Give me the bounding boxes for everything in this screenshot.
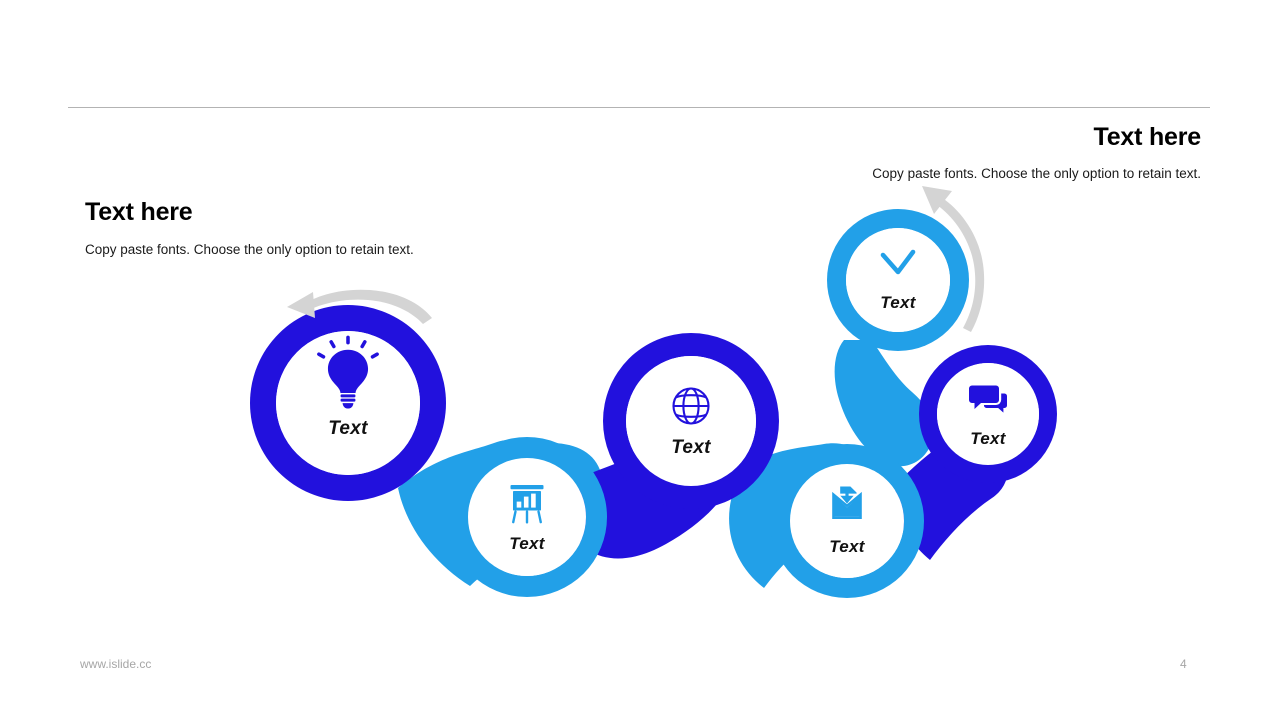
right-body: Copy paste fonts. Choose the only option… xyxy=(860,164,1201,185)
node-6-label: Text xyxy=(970,429,1006,449)
node-3-disc[interactable] xyxy=(626,356,756,486)
node-6-disc[interactable] xyxy=(937,363,1039,465)
node-rings xyxy=(0,0,1280,720)
node-5-disc[interactable] xyxy=(846,228,950,332)
node-4-label: Text xyxy=(829,537,865,557)
footer-url[interactable]: www.islide.cc xyxy=(80,657,151,671)
node-3-label: Text xyxy=(671,437,711,459)
process-chain-diagram xyxy=(0,0,1280,720)
page-number: 4 xyxy=(1180,657,1187,671)
text-block-right: Text here Copy paste fonts. Choose the o… xyxy=(860,124,1201,184)
node-6-ring[interactable] xyxy=(0,0,1280,720)
node-2-label: Text xyxy=(509,534,545,554)
node-5-label: Text xyxy=(880,293,916,313)
text-block-left: Text here Copy paste fonts. Choose the o… xyxy=(85,199,415,260)
left-body: Copy paste fonts. Choose the only option… xyxy=(85,240,415,261)
right-heading: Text here xyxy=(860,124,1201,152)
node-4-disc[interactable] xyxy=(790,464,904,578)
slide-canvas: Text Text Text Text Text Text Text here … xyxy=(0,0,1280,720)
node-1-label: Text xyxy=(328,418,368,440)
left-heading: Text here xyxy=(85,199,415,227)
